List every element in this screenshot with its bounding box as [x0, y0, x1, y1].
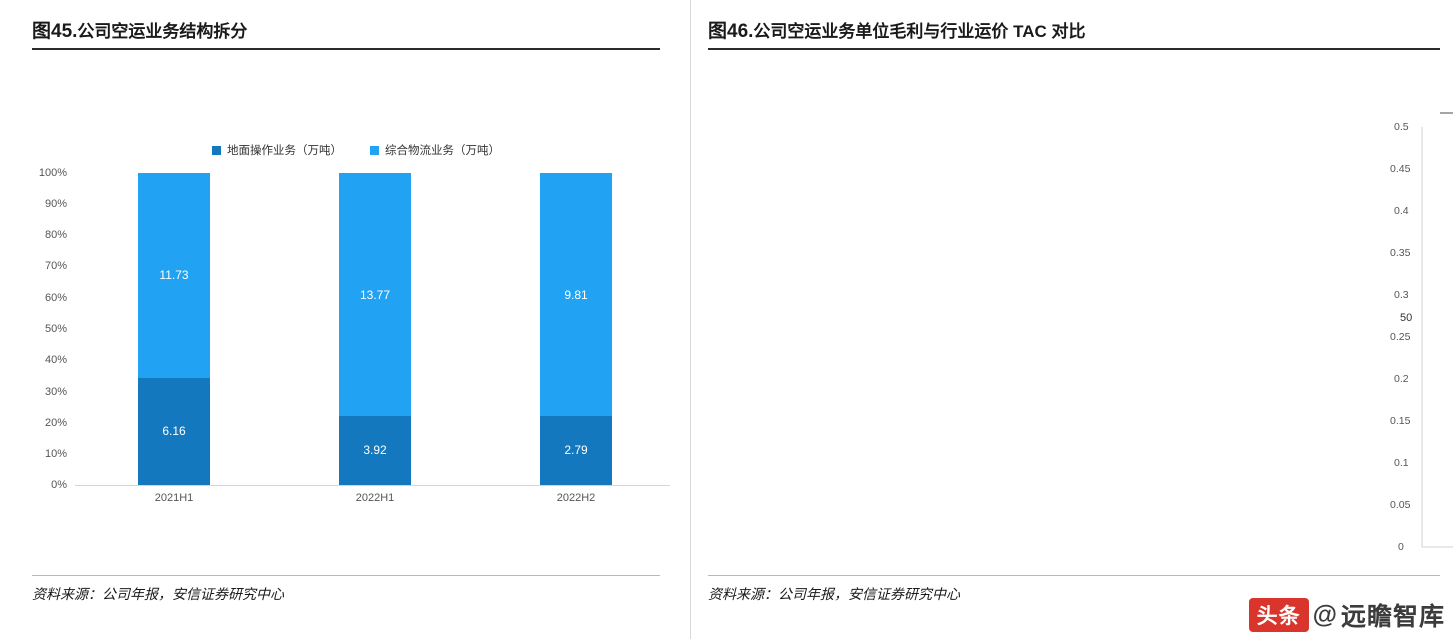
left-legend-item-ground: 地面操作业务（万吨）	[212, 142, 342, 158]
left-ytick-80: 80%	[33, 229, 67, 241]
legend-label-logistics: 综合物流业务（万吨）	[385, 142, 500, 158]
watermark: 头条 @ 远瞻智库	[1249, 597, 1445, 633]
left-ytick-100: 100%	[33, 167, 67, 179]
left-ytick-0: 0%	[33, 479, 67, 491]
right-chart-plot	[1380, 0, 1453, 639]
left-chart: 地面操作业务（万吨） 综合物流业务（万吨） 100% 90% 80% 70% 6…	[0, 0, 690, 639]
left-ytick-10: 10%	[33, 448, 67, 460]
left-ytick-20: 20%	[33, 417, 67, 429]
left-ytick-60: 60%	[33, 292, 67, 304]
page-root: 图45.公司空运业务结构拆分 地面操作业务（万吨） 综合物流业务（万吨） 100…	[0, 0, 1453, 639]
bar-label-2021H1-logistics: 11.73	[138, 268, 210, 282]
left-ytick-30: 30%	[33, 386, 67, 398]
left-panel: 图45.公司空运业务结构拆分 地面操作业务（万吨） 综合物流业务（万吨） 100…	[0, 0, 690, 639]
right-figure-title: 图46.公司空运业务单位毛利与行业运价 TAC 对比	[708, 16, 1086, 43]
left-ytick-40: 40%	[33, 354, 67, 366]
right-figure-number: 图46.	[708, 21, 753, 42]
right-title-rule	[708, 48, 1440, 50]
bar-category-2022H2: 2022H2	[540, 492, 612, 504]
right-source-rule	[708, 575, 1440, 576]
data-label-hk-namerica-2021H1: 50	[1400, 312, 1412, 324]
bar-label-2022H1-ground: 3.92	[339, 443, 411, 457]
bar-label-2022H1-logistics: 13.77	[339, 288, 411, 302]
bar-category-2021H1: 2021H1	[138, 492, 210, 504]
right-chart: 地面操作业务（万元/吨） 综合物流业务（万元/吨） 综合毛利（万元/吨） 香港-…	[1380, 0, 1453, 639]
watermark-text: 远瞻智库	[1341, 597, 1445, 633]
watermark-badge: 头条	[1249, 598, 1309, 632]
left-ytick-90: 90%	[33, 198, 67, 210]
legend-label-ground: 地面操作业务（万吨）	[227, 142, 342, 158]
bar-label-2021H1-ground: 6.16	[138, 424, 210, 438]
left-ytick-70: 70%	[33, 260, 67, 272]
bar-label-2022H2-logistics: 9.81	[540, 288, 612, 302]
left-legend-item-logistics: 综合物流业务（万吨）	[370, 142, 500, 158]
left-ytick-50: 50%	[33, 323, 67, 335]
right-source-text: 资料来源：公司年报，安信证券研究中心	[708, 584, 960, 604]
left-x-axis-line	[75, 485, 670, 486]
left-source-text: 资料来源：公司年报，安信证券研究中心	[32, 584, 284, 604]
legend-swatch-ground	[212, 146, 221, 155]
bar-category-2022H1: 2022H1	[339, 492, 411, 504]
right-figure-title-text: 公司空运业务单位毛利与行业运价 TAC 对比	[753, 22, 1085, 41]
watermark-at: @	[1313, 601, 1337, 630]
right-panel: 图46.公司空运业务单位毛利与行业运价 TAC 对比 地面操作业务（万元/吨） …	[690, 0, 1453, 639]
left-source-rule	[32, 575, 660, 576]
legend-swatch-logistics	[370, 146, 379, 155]
bar-label-2022H2-ground: 2.79	[540, 443, 612, 457]
